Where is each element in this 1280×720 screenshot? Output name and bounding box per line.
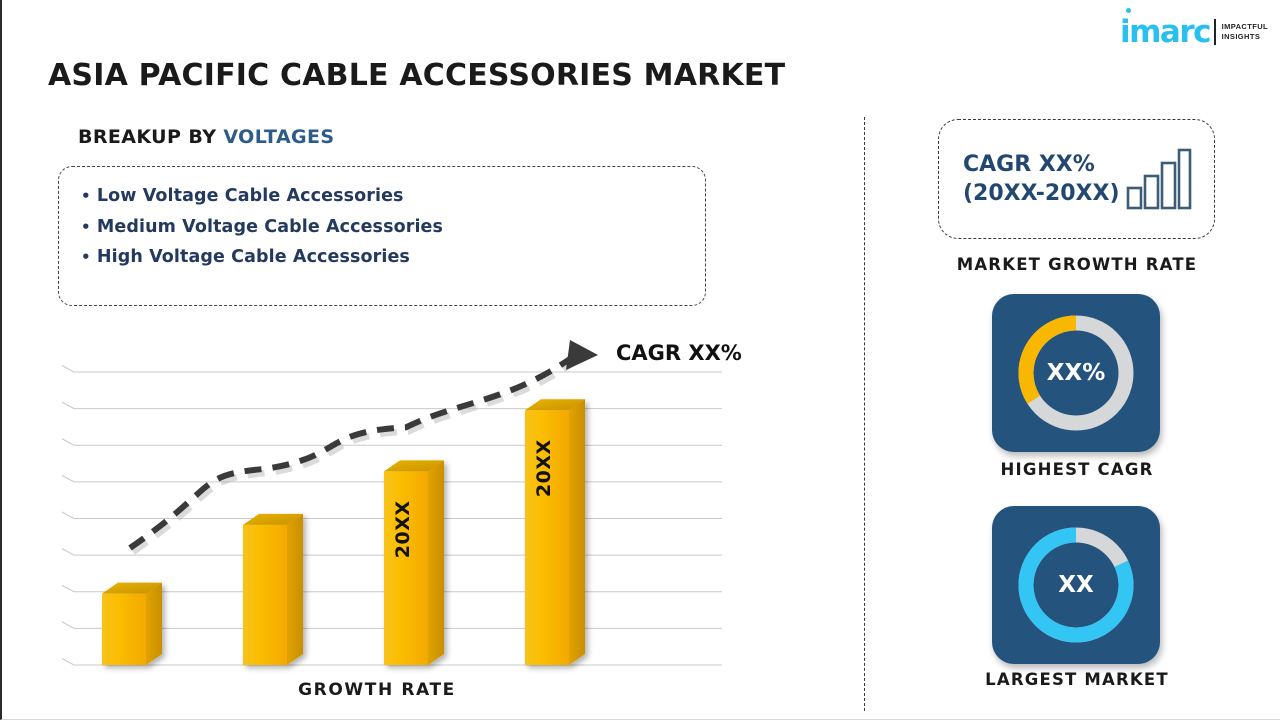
bar-chart-icon — [1126, 148, 1192, 215]
trendline — [130, 356, 574, 548]
bullet-icon: • — [81, 218, 91, 236]
bar-value-label: 20XX — [392, 500, 414, 558]
highest-cagr-donut — [1011, 308, 1141, 438]
vertical-divider — [864, 117, 865, 711]
logo-dot-icon — [1126, 8, 1131, 13]
list-item-label: Medium Voltage Cable Accessories — [97, 217, 443, 237]
list-item-label: High Voltage Cable Accessories — [97, 247, 410, 267]
logo-wordmark: imarc — [1120, 17, 1210, 48]
breakup-list-box: • Low Voltage Cable Accessories • Medium… — [58, 166, 706, 306]
largest-market-card: XX — [992, 506, 1160, 664]
cagr-summary-card: CAGR XX% (20XX-20XX) — [938, 119, 1215, 239]
imarc-logo: imarc IMPACTFUL INSIGHTS — [1120, 12, 1268, 52]
logo-divider — [1214, 19, 1216, 45]
chart-canvas: 20XX20XX — [62, 330, 752, 690]
list-item: • Medium Voltage Cable Accessories — [81, 212, 683, 243]
logo-tagline: IMPACTFUL INSIGHTS — [1222, 22, 1268, 42]
list-item: • Low Voltage Cable Accessories — [81, 181, 683, 212]
section-subtitle: BREAKUP BY VOLTAGES — [78, 126, 335, 148]
market-growth-rate-label: MARKET GROWTH RATE — [907, 255, 1247, 274]
infographic-page: imarc IMPACTFUL INSIGHTS ASIA PACIFIC CA… — [0, 0, 1280, 720]
highest-cagr-label: HIGHEST CAGR — [907, 460, 1247, 479]
cagr-card-line1: CAGR XX% — [963, 150, 1120, 179]
bar-value-label: 20XX — [533, 439, 555, 497]
growth-bar-chart: 20XX20XX — [62, 330, 752, 690]
page-title: ASIA PACIFIC CABLE ACCESSORIES MARKET — [48, 58, 785, 93]
trendline-arrow-icon — [566, 340, 598, 370]
bullet-icon: • — [81, 187, 91, 205]
bullet-icon: • — [81, 248, 91, 266]
chart-xaxis-label: GROWTH RATE — [2, 680, 752, 700]
highest-cagr-card: XX% — [992, 294, 1160, 452]
list-item: • High Voltage Cable Accessories — [81, 242, 683, 273]
subtitle-highlight: VOLTAGES — [223, 126, 334, 148]
cagr-card-text: CAGR XX% (20XX-20XX) — [963, 150, 1120, 208]
list-item-label: Low Voltage Cable Accessories — [97, 186, 404, 206]
cagr-card-line2: (20XX-20XX) — [963, 179, 1120, 208]
largest-market-donut — [1011, 520, 1141, 650]
trendline-label: CAGR XX% — [616, 341, 742, 365]
subtitle-prefix: BREAKUP BY — [78, 126, 223, 148]
largest-market-label: LARGEST MARKET — [907, 670, 1247, 689]
